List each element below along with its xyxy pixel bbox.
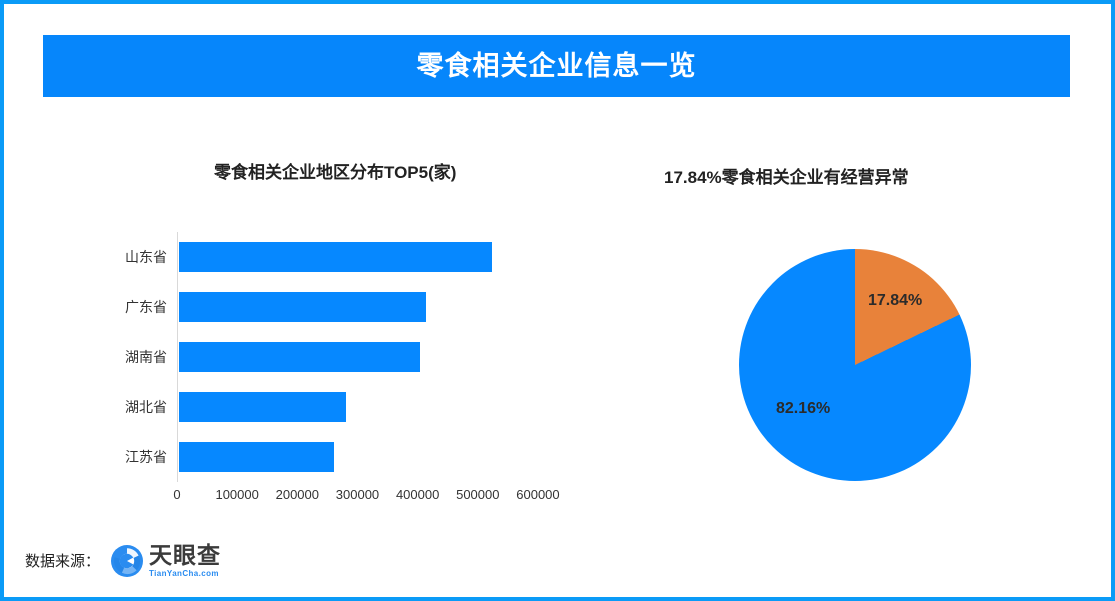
pie-slice-label: 17.84% — [868, 293, 922, 309]
pie-chart-title: 17.84%零食相关企业有经营异常 — [664, 169, 909, 186]
bar-value-rect — [179, 242, 492, 272]
logo-text: 天眼查 TianYanCha.com — [149, 544, 221, 578]
data-source-label: 数据来源： — [25, 554, 100, 569]
bar-category-label: 广东省 — [125, 300, 167, 314]
x-axis-tick-label: 400000 — [396, 488, 439, 501]
x-axis-tick-label: 100000 — [215, 488, 258, 501]
logo-name: 天眼查 — [149, 544, 221, 567]
pie-slice-label: 82.16% — [776, 401, 830, 417]
bar-value-rect — [179, 342, 420, 372]
pie-slices — [739, 249, 971, 481]
bar-chart-title: 零食相关企业地区分布TOP5(家) — [214, 164, 456, 181]
infographic-page: 零食相关企业信息一览 零食相关企业地区分布TOP5(家) 山东省广东省湖南省湖北… — [0, 0, 1115, 601]
title-banner: 零食相关企业信息一览 — [43, 35, 1070, 97]
footer: 数据来源： 天眼查 TianYanCha.com — [25, 544, 221, 578]
x-axis-tick-label: 200000 — [276, 488, 319, 501]
bar-value-rect — [179, 442, 334, 472]
bar-row: 湖北省 — [178, 382, 550, 432]
x-axis-tick-label: 300000 — [336, 488, 379, 501]
x-axis-tick-label: 500000 — [456, 488, 499, 501]
bar-value-rect — [179, 292, 426, 322]
bar-value-rect — [179, 392, 346, 422]
bar-category-label: 湖北省 — [125, 400, 167, 414]
bar-row: 山东省 — [178, 232, 550, 282]
bar-row: 广东省 — [178, 282, 550, 332]
bar-row: 江苏省 — [178, 432, 550, 482]
logo-domain: TianYanCha.com — [149, 570, 221, 578]
x-axis-tick-label: 600000 — [516, 488, 559, 501]
x-axis-tick-label: 0 — [173, 488, 180, 501]
bar-category-label: 湖南省 — [125, 350, 167, 364]
bar-row: 湖南省 — [178, 332, 550, 382]
pie-chart: 17.84%82.16% — [739, 249, 971, 481]
bar-category-label: 山东省 — [125, 250, 167, 264]
tianyancha-logo: 天眼查 TianYanCha.com — [110, 544, 221, 578]
page-title: 零食相关企业信息一览 — [417, 53, 697, 80]
bar-plot-area: 山东省广东省湖南省湖北省江苏省 — [177, 232, 550, 482]
bar-category-label: 江苏省 — [125, 450, 167, 464]
tianyancha-lens-icon — [110, 544, 144, 578]
bar-chart: 山东省广东省湖南省湖北省江苏省 010000020000030000040000… — [99, 226, 579, 516]
